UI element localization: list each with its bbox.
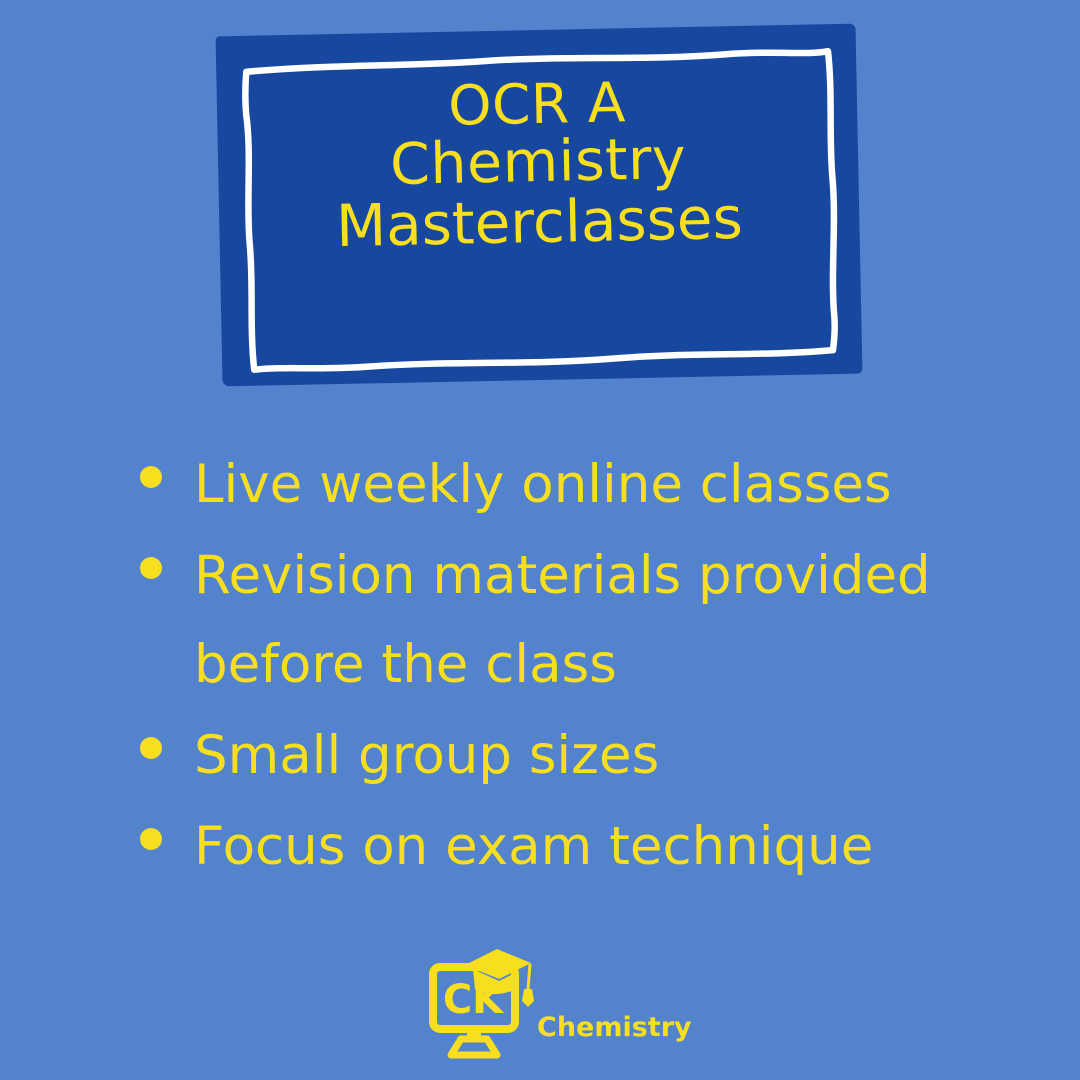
bullet-dot-icon — [140, 466, 162, 488]
poster-canvas: OCR A Chemistry Masterclasses Live weekl… — [0, 0, 1080, 1080]
list-item-label: Revision materials provided before the c… — [194, 531, 1040, 709]
list-item: Focus on exam technique — [140, 802, 1040, 891]
list-item: Revision materials provided before the c… — [140, 531, 1040, 709]
list-item-label: Small group sizes — [194, 711, 1040, 800]
title-text-block: OCR A Chemistry Masterclasses — [216, 70, 859, 260]
bullet-dot-icon — [140, 557, 162, 579]
monitor-icon: CK — [425, 945, 545, 1060]
title-card: OCR A Chemistry Masterclasses — [216, 24, 863, 387]
list-item: Live weekly online classes — [140, 440, 1040, 529]
brand-logo: CK Chemistry — [425, 940, 685, 1060]
list-item: Small group sizes — [140, 711, 1040, 800]
title-line-3: Masterclasses — [219, 186, 860, 259]
logo-wordmark: Chemistry — [537, 1012, 692, 1043]
list-item-label: Live weekly online classes — [194, 440, 1040, 529]
tassel-icon — [528, 964, 530, 989]
bullet-dot-icon — [140, 737, 162, 759]
list-item-label: Focus on exam technique — [194, 802, 1040, 891]
feature-bullet-list: Live weekly online classes Revision mate… — [140, 440, 1040, 893]
bullet-dot-icon — [140, 828, 162, 850]
